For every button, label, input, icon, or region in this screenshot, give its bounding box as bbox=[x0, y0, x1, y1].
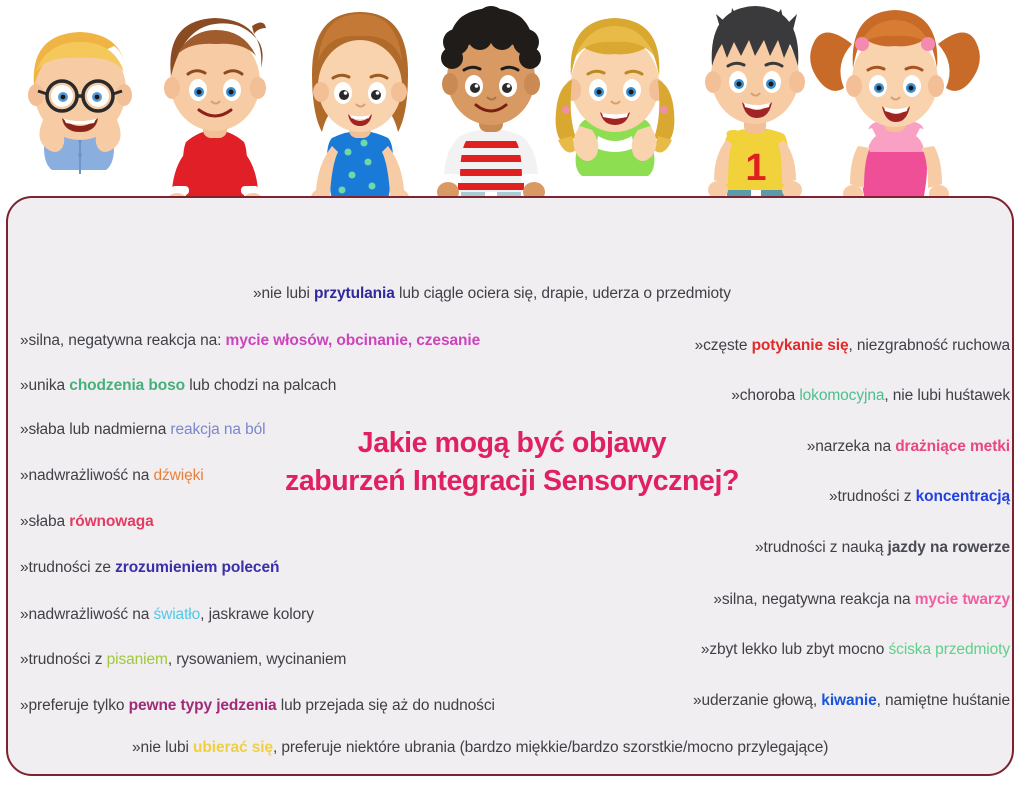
symptom-line: »preferuje tylko pewne typy jedzenia lub… bbox=[20, 697, 495, 715]
symptom-post: , rysowaniem, wycinaniem bbox=[168, 651, 347, 668]
symptom-post: , nie lubi huśtawek bbox=[884, 387, 1010, 404]
symptom-highlight: koncentracją bbox=[916, 488, 1010, 505]
symptom-line: »nadwrażliwość na światło, jaskrawe kolo… bbox=[20, 606, 314, 624]
symptom-pre: »nadwrażliwość na bbox=[20, 467, 153, 484]
symptom-pre: »choroba bbox=[731, 387, 799, 404]
symptom-pre: »silna, negatywna reakcja na bbox=[713, 591, 914, 608]
symptom-pre: »nadwrażliwość na bbox=[20, 606, 153, 623]
symptom-highlight: chodzenia boso bbox=[69, 377, 185, 394]
symptom-highlight: jazdy na rowerze bbox=[888, 539, 1010, 556]
symptom-highlight: reakcja na ból bbox=[170, 421, 265, 438]
symptom-pre: »trudności z nauką bbox=[755, 539, 888, 556]
kid-boy-glasses-blond bbox=[28, 32, 132, 174]
symptom-line: »słaba lub nadmierna reakcja na ból bbox=[20, 421, 266, 439]
symptom-highlight: drażniące metki bbox=[895, 438, 1010, 455]
symptom-highlight: przytulania bbox=[314, 285, 395, 302]
symptom-line: »uderzanie głową, kiwanie, namiętne huśt… bbox=[693, 692, 1010, 710]
symptom-post: lub ciągle ociera się, drapie, uderza o … bbox=[395, 285, 731, 302]
symptom-highlight: pewne typy jedzenia bbox=[129, 697, 277, 714]
symptom-pre: »zbyt lekko lub zbyt mocno bbox=[701, 641, 889, 658]
symptom-highlight: równowaga bbox=[69, 513, 153, 530]
symptom-pre: »słaba lub nadmierna bbox=[20, 421, 170, 438]
symptom-highlight: kiwanie bbox=[821, 692, 876, 709]
symptom-highlight: zrozumieniem poleceń bbox=[115, 559, 279, 576]
symptom-line: »trudności z pisaniem, rysowaniem, wycin… bbox=[20, 651, 346, 669]
symptom-highlight: mycie włosów, obcinanie, czesanie bbox=[226, 332, 481, 349]
symptom-post: , niezgrabność ruchowa bbox=[848, 337, 1010, 354]
symptom-highlight: ściska przedmioty bbox=[889, 641, 1010, 658]
symptom-pre: »narzeka na bbox=[807, 438, 895, 455]
symptom-highlight: potykanie się bbox=[752, 337, 849, 354]
symptom-pre: »trudności z bbox=[20, 651, 107, 668]
symptom-highlight: światło bbox=[153, 606, 200, 623]
symptom-pre: »trudności ze bbox=[20, 559, 115, 576]
symptom-line: »narzeka na drażniące metki bbox=[807, 438, 1010, 456]
symptom-line: »zbyt lekko lub zbyt mocno ściska przedm… bbox=[701, 641, 1010, 659]
symptom-line: »unika chodzenia boso lub chodzi na palc… bbox=[20, 377, 336, 395]
symptom-line: »trudności z nauką jazdy na rowerze bbox=[755, 539, 1010, 557]
symptom-pre: »unika bbox=[20, 377, 69, 394]
symptom-highlight: pisaniem bbox=[107, 651, 168, 668]
symptom-line: »nadwrażliwość na dźwięki bbox=[20, 467, 204, 485]
symptom-pre: »uderzanie głową, bbox=[693, 692, 821, 709]
symptom-highlight: dźwięki bbox=[153, 467, 203, 484]
symptom-post: , preferuje niektóre ubrania (bardzo mię… bbox=[273, 739, 828, 756]
symptom-highlight: lokomocyjna bbox=[799, 387, 884, 404]
symptom-post: lub chodzi na palcach bbox=[185, 377, 336, 394]
symptom-pre: »preferuje tylko bbox=[20, 697, 129, 714]
symptom-pre: »silna, negatywna reakcja na: bbox=[20, 332, 226, 349]
symptom-line: »choroba lokomocyjna, nie lubi huśtawek bbox=[731, 387, 1010, 405]
symptom-post: , jaskrawe kolory bbox=[200, 606, 314, 623]
symptom-pre: »nie lubi bbox=[132, 739, 193, 756]
symptom-post: lub przejada się aż do nudności bbox=[277, 697, 495, 714]
symptom-line-bottom: »nie lubi ubierać się, preferuje niektór… bbox=[132, 739, 828, 757]
symptom-line: »częste potykanie się, niezgrabność ruch… bbox=[695, 337, 1010, 355]
symptom-line-top: »nie lubi przytulania lub ciągle ociera … bbox=[253, 285, 731, 303]
symptom-line: »trudności ze zrozumieniem poleceń bbox=[20, 559, 279, 577]
symptom-line: »trudności z koncentracją bbox=[829, 488, 1010, 506]
symptom-highlight: mycie twarzy bbox=[915, 591, 1010, 608]
symptom-pre: »nie lubi bbox=[253, 285, 314, 302]
symptom-line: »silna, negatywna reakcja na mycie twarz… bbox=[713, 591, 1010, 609]
symptom-pre: »częste bbox=[695, 337, 752, 354]
symptom-pre: »trudności z bbox=[829, 488, 916, 505]
kid-girl-braids-green-top bbox=[556, 18, 675, 176]
symptom-pre: »słaba bbox=[20, 513, 69, 530]
symptom-highlight: ubierać się bbox=[193, 739, 273, 756]
symptom-post: , namiętne huśtanie bbox=[877, 692, 1010, 709]
svg-text:1: 1 bbox=[745, 147, 766, 189]
infographic-poster: 1 bbox=[0, 0, 1024, 789]
symptom-line: »słaba równowaga bbox=[20, 513, 154, 531]
symptom-line: »silna, negatywna reakcja na: mycie włos… bbox=[20, 332, 480, 350]
